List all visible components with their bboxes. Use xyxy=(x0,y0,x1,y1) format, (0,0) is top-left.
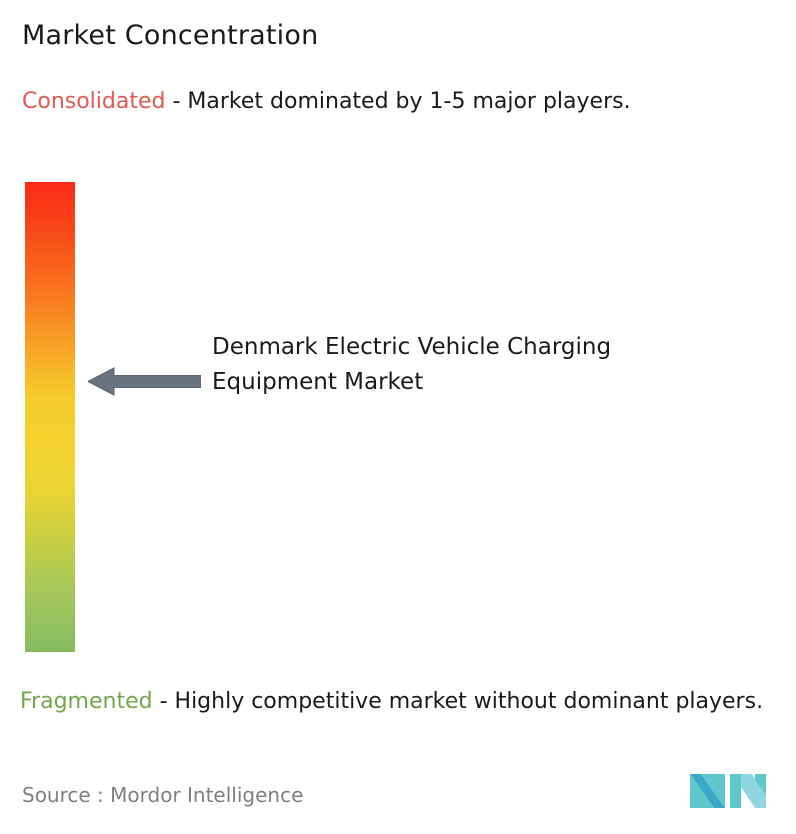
arrow-left-icon xyxy=(88,367,201,396)
market-concentration-scale-bar xyxy=(25,182,75,652)
legend-fragmented: Fragmented- Highly competitive market wi… xyxy=(20,686,790,718)
mordor-intelligence-logo xyxy=(690,768,766,814)
source-label: Source : Mordor Intelligence xyxy=(22,782,303,808)
legend-consolidated-term: Consolidated xyxy=(22,89,165,114)
legend-consolidated-description: - Market dominated by 1-5 major players. xyxy=(172,89,630,114)
legend-fragmented-description: - Highly competitive market without domi… xyxy=(160,689,763,714)
legend-consolidated: Consolidated- Market dominated by 1-5 ma… xyxy=(22,86,762,118)
page-title: Market Concentration xyxy=(22,19,318,53)
legend-fragmented-term: Fragmented xyxy=(20,689,153,714)
market-label: Denmark Electric Vehicle Charging Equipm… xyxy=(212,330,632,400)
